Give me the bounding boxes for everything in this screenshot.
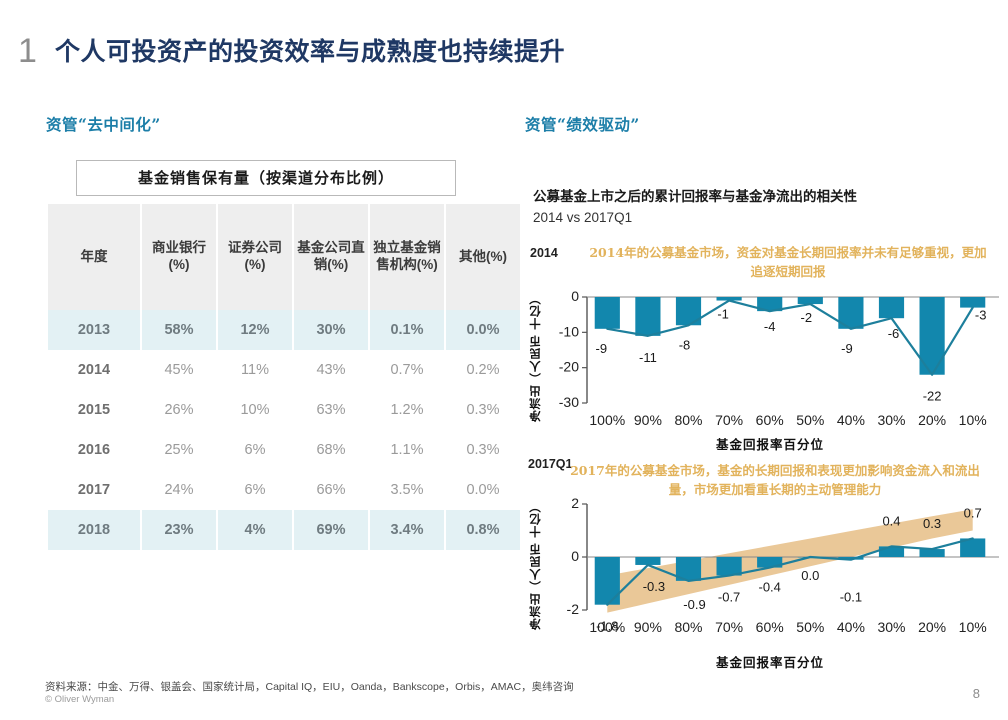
x-axis-tick-label: 30% <box>877 412 905 428</box>
bar <box>960 297 985 308</box>
data-label: -22 <box>923 389 942 404</box>
table-cell: 25% <box>142 430 216 470</box>
table-caption: 基金销售保有量（按渠道分布比例） <box>76 160 456 196</box>
table-cell-year: 2014 <box>48 350 140 390</box>
table-cell: 23% <box>142 510 216 550</box>
x-axis-tick-label: 100% <box>589 412 625 428</box>
table-row: 2018 23% 4% 69% 3.4% 0.8% <box>48 510 520 550</box>
x-axis-tick-label: 100% <box>589 619 625 635</box>
fund-sales-table-container: 基金销售保有量（按渠道分布比例） 年度 商业银行(%) 证券公司(%) 基金公司… <box>46 160 486 550</box>
table-cell: 0.1% <box>370 310 444 350</box>
x-axis-tick-label: 60% <box>756 412 784 428</box>
x-axis-tick-label: 50% <box>796 412 824 428</box>
x-axis-tick-label: 40% <box>837 412 865 428</box>
slide-number-mark: 1 <box>18 34 37 68</box>
table-cell: 63% <box>294 390 368 430</box>
table-row: 2017 24% 6% 66% 3.5% 0.0% <box>48 470 520 510</box>
y-axis-tick-label: 2 <box>571 495 579 511</box>
table-cell-year: 2016 <box>48 430 140 470</box>
table-row: 2015 26% 10% 63% 1.2% 0.3% <box>48 390 520 430</box>
data-label: -9 <box>841 341 853 356</box>
x-axis-tick-label: 70% <box>715 619 743 635</box>
table-cell-year: 2015 <box>48 390 140 430</box>
x-axis-tick-label: 80% <box>674 412 702 428</box>
chart-year-tag-2014: 2014 <box>530 246 558 260</box>
table-cell: 12% <box>218 310 292 350</box>
table-cell: 26% <box>142 390 216 430</box>
y-axis-tick-label: -30 <box>559 394 579 410</box>
x-axis-tick-label: 90% <box>634 412 662 428</box>
data-label: 0.7 <box>964 505 982 520</box>
x-axis-tick-label: 90% <box>634 619 662 635</box>
table-cell: 0.3% <box>446 390 520 430</box>
x-axis-tick-label: 40% <box>837 619 865 635</box>
y-axis-tick-label: -10 <box>559 323 579 339</box>
table-cell: 1.2% <box>370 390 444 430</box>
x-axis-tick-label: 50% <box>796 619 824 635</box>
data-label: -6 <box>888 326 900 341</box>
data-label: -0.9 <box>683 597 705 612</box>
data-label: 0.4 <box>882 513 900 528</box>
section-heading-right: 资管“绩效驱动” <box>525 113 640 135</box>
right-panel-title-line1: 公募基金上市之后的累计回报率与基金净流出的相关性 <box>533 188 993 208</box>
page-title: 个人可投资产的投资效率与成熟度也持续提升 <box>55 32 565 68</box>
table-cell: 6% <box>218 470 292 510</box>
table-cell: 58% <box>142 310 216 350</box>
bar <box>635 297 660 336</box>
x-axis-tick-label: 30% <box>877 619 905 635</box>
bar <box>595 297 620 329</box>
table-cell: 30% <box>294 310 368 350</box>
y-axis-tick-label: 0 <box>571 548 579 564</box>
table-cell: 0.7% <box>370 350 444 390</box>
data-label: -1 <box>717 307 729 322</box>
x-axis-tick-label: 20% <box>918 412 946 428</box>
data-label: -0.7 <box>718 590 740 605</box>
table-header-cell: 独立基金销售机构(%) <box>370 204 444 310</box>
footer-source: 资料来源：中金、万得、银盖会、国家统计局，Capital IQ，EIU，Oand… <box>45 679 574 694</box>
x-axis-tick-label: 80% <box>674 619 702 635</box>
data-label: -0.4 <box>758 580 780 595</box>
table-cell-year: 2018 <box>48 510 140 550</box>
table-row: 2016 25% 6% 68% 1.1% 0.3% <box>48 430 520 470</box>
table-cell-year: 2017 <box>48 470 140 510</box>
x-axis-tick-label: 10% <box>959 412 987 428</box>
table-row: 2014 45% 11% 43% 0.7% 0.2% <box>48 350 520 390</box>
table-cell: 68% <box>294 430 368 470</box>
data-label: 0.0 <box>801 568 819 583</box>
right-panel-title-line2: 2014 vs 2017Q1 <box>533 208 993 228</box>
table-cell: 6% <box>218 430 292 470</box>
table-header-row: 年度 商业银行(%) 证券公司(%) 基金公司直销(%) 独立基金销售机构(%)… <box>48 204 520 310</box>
data-label: -3 <box>975 308 987 323</box>
footer-copyright: © Oliver Wyman <box>45 694 114 705</box>
table-cell: 66% <box>294 470 368 510</box>
table-header-cell: 其他(%) <box>446 204 520 310</box>
table-cell: 43% <box>294 350 368 390</box>
bar <box>879 297 904 318</box>
y-axis-tick-label: -2 <box>567 601 580 617</box>
table-cell: 69% <box>294 510 368 550</box>
table-cell: 3.5% <box>370 470 444 510</box>
x-axis-tick-label: 70% <box>715 412 743 428</box>
data-label: -4 <box>764 319 776 334</box>
trend-band <box>607 509 972 612</box>
table-header-cell: 商业银行(%) <box>142 204 216 310</box>
trend-line <box>607 301 972 375</box>
table-cell: 3.4% <box>370 510 444 550</box>
chart-2017: 20-2-1.8-0.3-0.9-0.7-0.40.0-0.10.40.30.7… <box>525 490 1000 660</box>
x-axis-tick-label: 20% <box>918 619 946 635</box>
table-header-cell: 年度 <box>48 204 140 310</box>
table-cell: 24% <box>142 470 216 510</box>
table-header-cell: 基金公司直销(%) <box>294 204 368 310</box>
data-label: 0.3 <box>923 516 941 531</box>
bar <box>635 557 660 565</box>
table-cell: 0.3% <box>446 430 520 470</box>
fund-sales-table: 年度 商业银行(%) 证券公司(%) 基金公司直销(%) 独立基金销售机构(%)… <box>46 204 522 550</box>
chart-2014-svg: 0-10-20-30-9-11-8-1-4-2-9-6-22-3100%90%8… <box>525 285 1000 440</box>
table-row: 2013 58% 12% 30% 0.1% 0.0% <box>48 310 520 350</box>
table-header-cell: 证券公司(%) <box>218 204 292 310</box>
table-cell: 45% <box>142 350 216 390</box>
chart-2014: 0-10-20-30-9-11-8-1-4-2-9-6-22-3100%90%8… <box>525 285 1000 440</box>
table-cell: 10% <box>218 390 292 430</box>
y-axis-tick-label: -20 <box>559 359 579 375</box>
table-cell: 0.2% <box>446 350 520 390</box>
data-label: -11 <box>639 350 657 365</box>
table-cell: 0.8% <box>446 510 520 550</box>
table-cell: 4% <box>218 510 292 550</box>
data-label: -0.3 <box>643 579 665 594</box>
x-axis-tick-label: 60% <box>756 619 784 635</box>
chart-annotation-2014: 2014年的公募基金市场，资金对基金长期回报率并未有足够重视，更加追逐短期回报 <box>588 244 988 282</box>
table-cell: 0.0% <box>446 310 520 350</box>
table-cell: 0.0% <box>446 470 520 510</box>
right-panel-title: 公募基金上市之后的累计回报率与基金净流出的相关性 2014 vs 2017Q1 <box>533 188 993 227</box>
table-cell: 11% <box>218 350 292 390</box>
data-label: -2 <box>801 310 813 325</box>
data-label: -8 <box>679 337 691 352</box>
table-cell: 1.1% <box>370 430 444 470</box>
chart-2017-svg: 20-2-1.8-0.3-0.9-0.7-0.40.0-0.10.40.30.7… <box>525 490 1000 660</box>
table-cell-year: 2013 <box>48 310 140 350</box>
data-label: -9 <box>596 341 608 356</box>
x-axis-tick-label: 10% <box>959 619 987 635</box>
data-label: -0.1 <box>840 590 862 605</box>
y-axis-tick-label: 0 <box>571 288 579 304</box>
section-heading-left: 资管“去中间化” <box>46 113 161 135</box>
page-number: 8 <box>973 686 980 701</box>
bar <box>920 549 945 557</box>
